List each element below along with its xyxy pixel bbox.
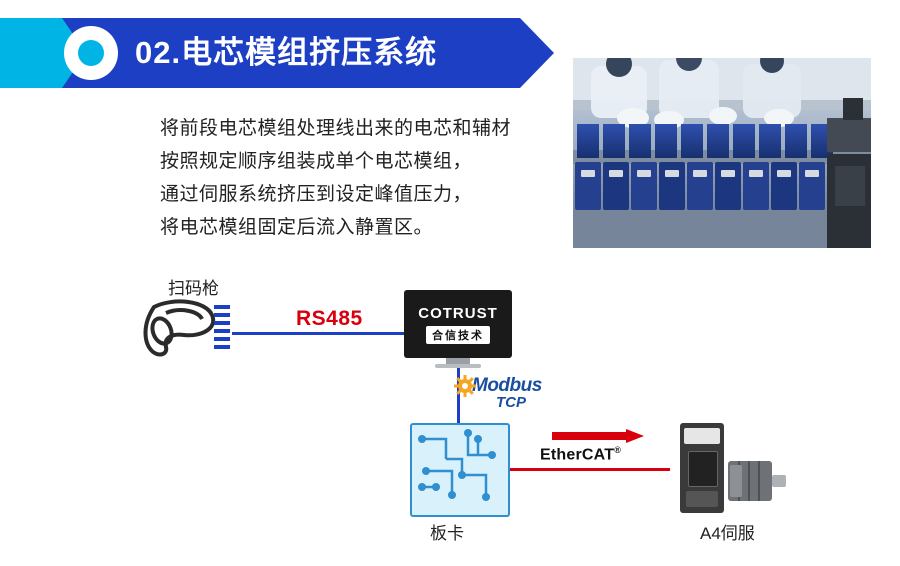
rs485-protocol-label: RS485 xyxy=(296,307,363,331)
barcode-scanner-device xyxy=(140,297,236,367)
circle-dot-icon xyxy=(64,26,118,80)
hmi-base xyxy=(435,364,481,368)
system-topology-diagram: 扫码枪 板卡 A4伺服 RS485 Modbus TCP EtherCAT® xyxy=(0,255,900,566)
hmi-screen: COTRUST 合信技术 xyxy=(404,290,512,358)
description-text: 将前段电芯模组处理线出来的电芯和辅材 按照规定顺序组装成单个电芯模组， 通过伺服… xyxy=(160,112,560,244)
page-title: 02.电芯模组挤压系统 xyxy=(135,18,437,88)
ethercat-connection-line xyxy=(505,468,670,471)
modbus-tcp-logo: Modbus TCP xyxy=(472,375,582,421)
header-cyan-accent xyxy=(0,18,62,88)
circle-dot-inner xyxy=(78,40,104,66)
description-line-4: 将电芯模组固定后流入静置区。 xyxy=(160,211,560,244)
description-line-1: 将前段电芯模组处理线出来的电芯和辅材 xyxy=(160,112,560,145)
servo-label: A4伺服 xyxy=(700,519,755,544)
servo-motor-shaft xyxy=(772,475,786,487)
control-board-device xyxy=(410,423,510,517)
servo-drive-port xyxy=(688,451,718,487)
servo-drive-display xyxy=(684,428,720,444)
production-line-photo xyxy=(573,58,871,248)
scanner-connector-icon xyxy=(214,305,230,349)
header-banner: 02.电芯模组挤压系统 xyxy=(0,18,560,88)
scanner-label: 扫码枪 xyxy=(168,274,219,299)
ethercat-protocol-label: EtherCAT® xyxy=(540,445,621,464)
ethercat-text: EtherCAT xyxy=(540,446,614,463)
description-line-2: 按照规定顺序组装成单个电芯模组， xyxy=(160,145,560,178)
description-line-3: 通过伺服系统挤压到设定峰值压力， xyxy=(160,178,560,211)
hmi-brand-cn-label: 合信技术 xyxy=(426,326,490,344)
ethercat-registered-mark: ® xyxy=(614,445,621,455)
circuit-board-icon xyxy=(412,425,504,511)
modbus-gear-icon xyxy=(454,375,476,397)
board-label: 板卡 xyxy=(430,519,464,544)
servo-drive-body xyxy=(680,423,724,513)
a4-servo-device xyxy=(680,423,796,515)
rs485-connection-line xyxy=(232,332,404,335)
hmi-panel-device: COTRUST 合信技术 xyxy=(404,290,512,370)
servo-motor-flange xyxy=(730,465,742,497)
photo-illustration xyxy=(573,58,871,248)
ethercat-arrow-icon xyxy=(552,429,644,443)
servo-drive-terminal xyxy=(686,491,718,507)
hmi-brand-label: COTRUST xyxy=(418,305,498,322)
